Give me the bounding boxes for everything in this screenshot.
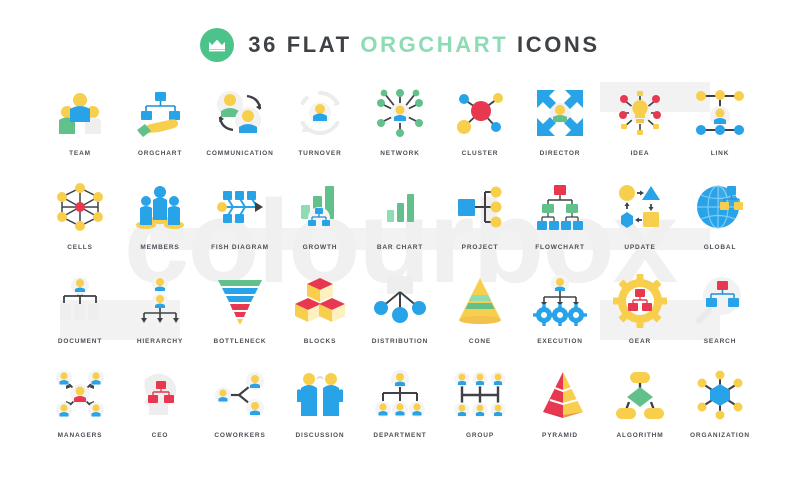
icon-grid: TEAM ORGCHART [40, 82, 760, 458]
icon-cell-blocks[interactable]: BLOCKS [280, 270, 360, 364]
group-icon [449, 364, 511, 426]
cone-icon [449, 270, 511, 332]
icon-cell-pyramid[interactable]: PYRAMID [520, 364, 600, 458]
algorithm-icon [609, 364, 671, 426]
communication-icon [209, 82, 271, 144]
department-icon [369, 364, 431, 426]
icon-label: BLOCKS [304, 338, 337, 345]
growth-icon [289, 176, 351, 238]
icon-cell-cluster[interactable]: CLUSTER [440, 82, 520, 176]
icon-cell-department[interactable]: DEPARTMENT [360, 364, 440, 458]
execution-gears-icon [529, 270, 591, 332]
turnover-icon [289, 82, 351, 144]
document-icon [49, 270, 111, 332]
discussion-icon [289, 364, 351, 426]
icon-label: GROUP [466, 432, 494, 439]
hierarchy-icon [129, 270, 191, 332]
icon-label: FISH DIAGRAM [211, 244, 269, 251]
title-count: 36 [248, 32, 278, 57]
organization-hub-icon [689, 364, 751, 426]
icon-label: LINK [711, 150, 730, 157]
icon-label: PYRAMID [542, 432, 578, 439]
icon-label: ORGANIZATION [690, 432, 750, 439]
icon-cell-document[interactable]: DOCUMENT [40, 270, 120, 364]
orgchart-hand-icon [129, 82, 191, 144]
icon-label: EXECUTION [537, 338, 583, 345]
icon-label: UPDATE [624, 244, 655, 251]
icon-label: SEARCH [704, 338, 737, 345]
icon-cell-group[interactable]: GROUP [440, 364, 520, 458]
team-icon [49, 82, 111, 144]
icon-label: TURNOVER [298, 150, 341, 157]
icon-label: GLOBAL [704, 244, 737, 251]
link-nodes-icon [689, 82, 751, 144]
icon-label: DISCUSSION [296, 432, 345, 439]
icon-cell-turnover[interactable]: TURNOVER [280, 82, 360, 176]
icon-cell-idea[interactable]: IDEA [600, 82, 680, 176]
cells-icon [49, 176, 111, 238]
icon-cell-search[interactable]: SEARCH [680, 270, 760, 364]
icon-label: DEPARTMENT [373, 432, 426, 439]
icon-cell-network[interactable]: NETWORK [360, 82, 440, 176]
icon-cell-update[interactable]: UPDATE [600, 176, 680, 270]
director-arrows-icon [529, 82, 591, 144]
gear-icon [609, 270, 671, 332]
distribution-icon [369, 270, 431, 332]
icon-cell-hierarchy[interactable]: HIERARCHY [120, 270, 200, 364]
icon-cell-growth[interactable]: GROWTH [280, 176, 360, 270]
title-word-icons: ICONS [517, 32, 600, 57]
pyramid-icon [529, 364, 591, 426]
icon-label: CONE [469, 338, 491, 345]
icon-label: IDEA [631, 150, 650, 157]
crown-badge-icon [200, 28, 234, 62]
icon-cell-algorithm[interactable]: ALGORITHM [600, 364, 680, 458]
blocks-cubes-icon [289, 270, 351, 332]
icon-label: CLUSTER [462, 150, 499, 157]
icon-label: COMMUNICATION [206, 150, 273, 157]
flowchart-icon [529, 176, 591, 238]
icon-label: DISTRIBUTION [372, 338, 428, 345]
icon-cell-global[interactable]: GLOBAL [680, 176, 760, 270]
icon-cell-coworkers[interactable]: COWORKERS [200, 364, 280, 458]
search-magnifier-icon [689, 270, 751, 332]
icon-label: MEMBERS [140, 244, 179, 251]
ceo-head-icon [129, 364, 191, 426]
icon-cell-director[interactable]: DIRECTOR [520, 82, 600, 176]
icon-label: COWORKERS [214, 432, 265, 439]
icon-label: NETWORK [380, 150, 420, 157]
icon-cell-distribution[interactable]: DISTRIBUTION [360, 270, 440, 364]
global-globe-icon [689, 176, 751, 238]
icon-cell-discussion[interactable]: DISCUSSION [280, 364, 360, 458]
title-word-flat: FLAT [287, 32, 352, 57]
icon-label: FLOWCHART [535, 244, 585, 251]
icon-cell-flowchart[interactable]: FLOWCHART [520, 176, 600, 270]
icon-label: MANAGERS [58, 432, 103, 439]
icon-cell-members[interactable]: MEMBERS [120, 176, 200, 270]
bottleneck-funnel-icon [209, 270, 271, 332]
icon-cell-fish-diagram[interactable]: FISH DIAGRAM [200, 176, 280, 270]
icon-cell-execution[interactable]: EXECUTION [520, 270, 600, 364]
icon-label: BAR CHART [377, 244, 423, 251]
coworkers-icon [209, 364, 271, 426]
page-header: 36 FLAT ORGCHART ICONS [0, 28, 800, 62]
icon-label: BOTTLENECK [214, 338, 267, 345]
icon-cell-cone[interactable]: CONE [440, 270, 520, 364]
bar-chart-icon [369, 176, 431, 238]
network-icon [369, 82, 431, 144]
cluster-icon [449, 82, 511, 144]
icon-label: ALGORITHM [616, 432, 663, 439]
icon-cell-organization[interactable]: ORGANIZATION [680, 364, 760, 458]
icon-cell-link[interactable]: LINK [680, 82, 760, 176]
icon-cell-communication[interactable]: COMMUNICATION [200, 82, 280, 176]
fish-diagram-icon [209, 176, 271, 238]
icon-label: CELLS [67, 244, 93, 251]
page-title: 36 FLAT ORGCHART ICONS [248, 32, 599, 58]
title-word-orgchart: ORGCHART [360, 32, 508, 57]
idea-bulb-icon [609, 82, 671, 144]
icon-cell-bar-chart[interactable]: BAR CHART [360, 176, 440, 270]
managers-icon [49, 364, 111, 426]
icon-label: PROJECT [462, 244, 499, 251]
icon-label: GROWTH [303, 244, 338, 251]
icon-cell-bottleneck[interactable]: BOTTLENECK [200, 270, 280, 364]
icon-cell-gear[interactable]: GEAR [600, 270, 680, 364]
icon-cell-team[interactable]: TEAM [40, 82, 120, 176]
icon-label: TEAM [69, 150, 91, 157]
icon-cell-ceo[interactable]: CEO [120, 364, 200, 458]
members-icon [129, 176, 191, 238]
icon-cell-cells[interactable]: CELLS [40, 176, 120, 270]
icon-cell-orgchart[interactable]: ORGCHART [120, 82, 200, 176]
icon-cell-managers[interactable]: MANAGERS [40, 364, 120, 458]
icon-label: DIRECTOR [540, 150, 581, 157]
update-cycle-icon [609, 176, 671, 238]
icon-label: HIERARCHY [137, 338, 183, 345]
project-icon [449, 176, 511, 238]
icon-label: CEO [152, 432, 169, 439]
icon-label: ORGCHART [138, 150, 182, 157]
icon-label: DOCUMENT [58, 338, 102, 345]
icon-cell-project[interactable]: PROJECT [440, 176, 520, 270]
icon-label: GEAR [629, 338, 651, 345]
